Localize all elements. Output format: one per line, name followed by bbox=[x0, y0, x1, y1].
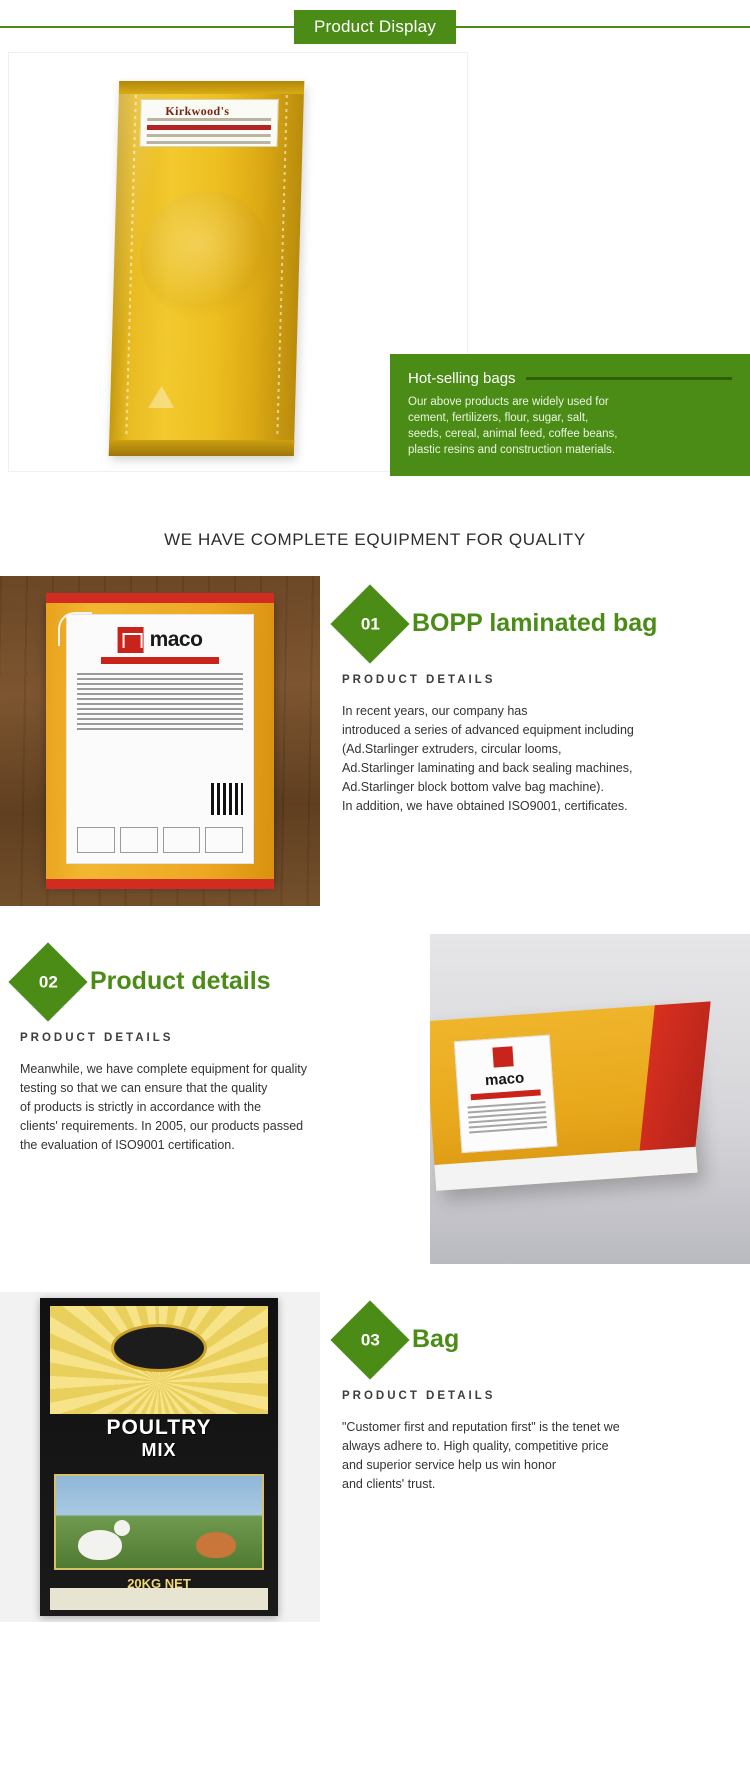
body-line: and superior service help us win honor bbox=[342, 1456, 738, 1475]
poultry-mix-bag: POULTRY MIX 20KG NET bbox=[40, 1298, 278, 1616]
product-photo-02: maco bbox=[430, 934, 750, 1264]
product-photo-01: maco bbox=[0, 576, 320, 906]
hot-selling-card-title: Hot-selling bags bbox=[408, 370, 516, 387]
care-icon bbox=[77, 827, 115, 853]
body-line: of products is strictly in accordance wi… bbox=[20, 1098, 408, 1117]
bag-watermark-graphic bbox=[139, 191, 273, 321]
hot-selling-bags-card: Hot-selling bags Our above products are … bbox=[390, 354, 750, 476]
bag-white-panel: maco bbox=[66, 614, 254, 864]
body-line: "Customer first and reputation first" is… bbox=[342, 1418, 738, 1437]
house-icon bbox=[118, 627, 144, 653]
body-line: In addition, we have obtained ISO9001, c… bbox=[342, 797, 738, 816]
body-line: the evaluation of ISO9001 certification. bbox=[20, 1136, 408, 1155]
label-line bbox=[146, 141, 270, 144]
bag-bottom-edge bbox=[46, 879, 274, 889]
body-line: always adhere to. High quality, competit… bbox=[342, 1437, 738, 1456]
brand-oval-logo bbox=[111, 1324, 207, 1372]
body-line: (Ad.Starlinger extruders, circular looms… bbox=[342, 740, 738, 759]
product-number-badge-01: 01 bbox=[330, 584, 409, 663]
care-icon bbox=[163, 827, 201, 853]
chicken-photo bbox=[54, 1474, 264, 1570]
product-details-label-02: PRODUCT DETAILS bbox=[20, 1032, 408, 1044]
body-line: Ad.Starlinger block bottom valve bag mac… bbox=[342, 778, 738, 797]
maco-subtitle-bar bbox=[101, 657, 219, 664]
body-line: clients' requirements. In 2005, our prod… bbox=[20, 1117, 408, 1136]
product-copy-02: 02 Product details PRODUCT DETAILS Meanw… bbox=[0, 934, 430, 1155]
hot-selling-card-title-row: Hot-selling bags bbox=[408, 370, 732, 387]
product-body-02: Meanwhile, we have complete equipment fo… bbox=[20, 1060, 408, 1155]
product-title-02: Product details bbox=[90, 968, 271, 996]
bag-string-handle bbox=[58, 612, 92, 646]
bag-seam-right bbox=[276, 95, 288, 438]
product-display-page: Product Display Kirkwood's H bbox=[0, 0, 750, 1650]
maco-wordmark: maco bbox=[150, 628, 203, 652]
product-body-01: In recent years, our company has introdu… bbox=[342, 702, 738, 816]
poultry-title-line1: POULTRY bbox=[107, 1416, 212, 1439]
product-row-01: maco bbox=[0, 576, 750, 906]
maco-wordmark: maco bbox=[457, 1068, 552, 1092]
hot-selling-card-body: Our above products are widely used for c… bbox=[408, 394, 623, 458]
care-icon bbox=[120, 827, 158, 853]
recycle-triangle-icon bbox=[148, 386, 175, 408]
body-line: Meanwhile, we have complete equipment fo… bbox=[20, 1060, 408, 1079]
body-line: Ad.Starlinger laminating and back sealin… bbox=[342, 759, 738, 778]
product-badge-row-01: 01 BOPP laminated bag bbox=[342, 596, 738, 652]
qr-code-icon bbox=[211, 783, 243, 815]
product-details-label-01: PRODUCT DETAILS bbox=[342, 674, 738, 686]
product-number-03: 03 bbox=[361, 1330, 380, 1350]
banner-title: Product Display bbox=[294, 10, 456, 44]
care-symbols bbox=[77, 827, 243, 853]
title-underline bbox=[526, 377, 732, 380]
bag-bottom-panel bbox=[50, 1588, 268, 1610]
house-icon bbox=[492, 1046, 513, 1067]
maco-spec-text bbox=[77, 673, 243, 733]
product-number-badge-03: 03 bbox=[330, 1300, 409, 1379]
product-copy-01: 01 BOPP laminated bag PRODUCT DETAILS In… bbox=[320, 576, 750, 816]
poultry-title-line2: MIX bbox=[40, 1440, 278, 1461]
product-number-badge-02: 02 bbox=[8, 942, 87, 1021]
hen-white-icon bbox=[78, 1530, 122, 1560]
hero-section: Kirkwood's Hot-selling bags Our above pr… bbox=[0, 52, 750, 502]
body-line: In recent years, our company has bbox=[342, 702, 738, 721]
label-line bbox=[147, 134, 271, 137]
bag-label: Kirkwood's bbox=[139, 99, 278, 147]
product-title-03: Bag bbox=[412, 1326, 459, 1354]
product-row-02: 02 Product details PRODUCT DETAILS Meanw… bbox=[0, 934, 750, 1264]
product-number-01: 01 bbox=[361, 614, 380, 634]
valve-bag-label: maco bbox=[454, 1035, 558, 1153]
body-line: testing so that we can ensure that the q… bbox=[20, 1079, 408, 1098]
product-badge-row-02: 02 Product details bbox=[20, 954, 408, 1010]
body-line: and clients' trust. bbox=[342, 1475, 738, 1494]
bag-brand-text: Kirkwood's bbox=[165, 104, 229, 119]
product-details-label-03: PRODUCT DETAILS bbox=[342, 1390, 738, 1402]
label-line-red bbox=[147, 125, 271, 130]
body-line: introduced a series of advanced equipmen… bbox=[342, 721, 738, 740]
hen-brown-icon bbox=[196, 1532, 236, 1558]
product-photo-03: POULTRY MIX 20KG NET bbox=[0, 1292, 320, 1622]
product-number-02: 02 bbox=[39, 972, 58, 992]
product-title-01: BOPP laminated bag bbox=[412, 610, 657, 638]
maco-subtitle-bar bbox=[471, 1089, 541, 1100]
product-row-03: POULTRY MIX 20KG NET 03 Bag PRODUCT DETA… bbox=[0, 1292, 750, 1622]
product-body-03: "Customer first and reputation first" is… bbox=[342, 1418, 738, 1494]
care-icon bbox=[205, 827, 243, 853]
product-copy-03: 03 Bag PRODUCT DETAILS "Customer first a… bbox=[320, 1292, 750, 1494]
page-banner: Product Display bbox=[0, 8, 750, 46]
maco-logo: maco bbox=[118, 627, 203, 653]
bag-bottom-marking bbox=[238, 443, 278, 450]
bag-seam-left bbox=[125, 95, 137, 438]
maco-bopp-bag: maco bbox=[46, 598, 274, 884]
poultry-bag-title: POULTRY MIX bbox=[40, 1416, 278, 1461]
hero-bag-image: Kirkwood's bbox=[109, 81, 304, 456]
maco-valve-bag: maco bbox=[430, 1003, 698, 1191]
bag-top-edge bbox=[46, 593, 274, 603]
section-heading: WE HAVE COMPLETE EQUIPMENT FOR QUALITY bbox=[0, 502, 750, 576]
product-badge-row-03: 03 Bag bbox=[342, 1312, 738, 1368]
